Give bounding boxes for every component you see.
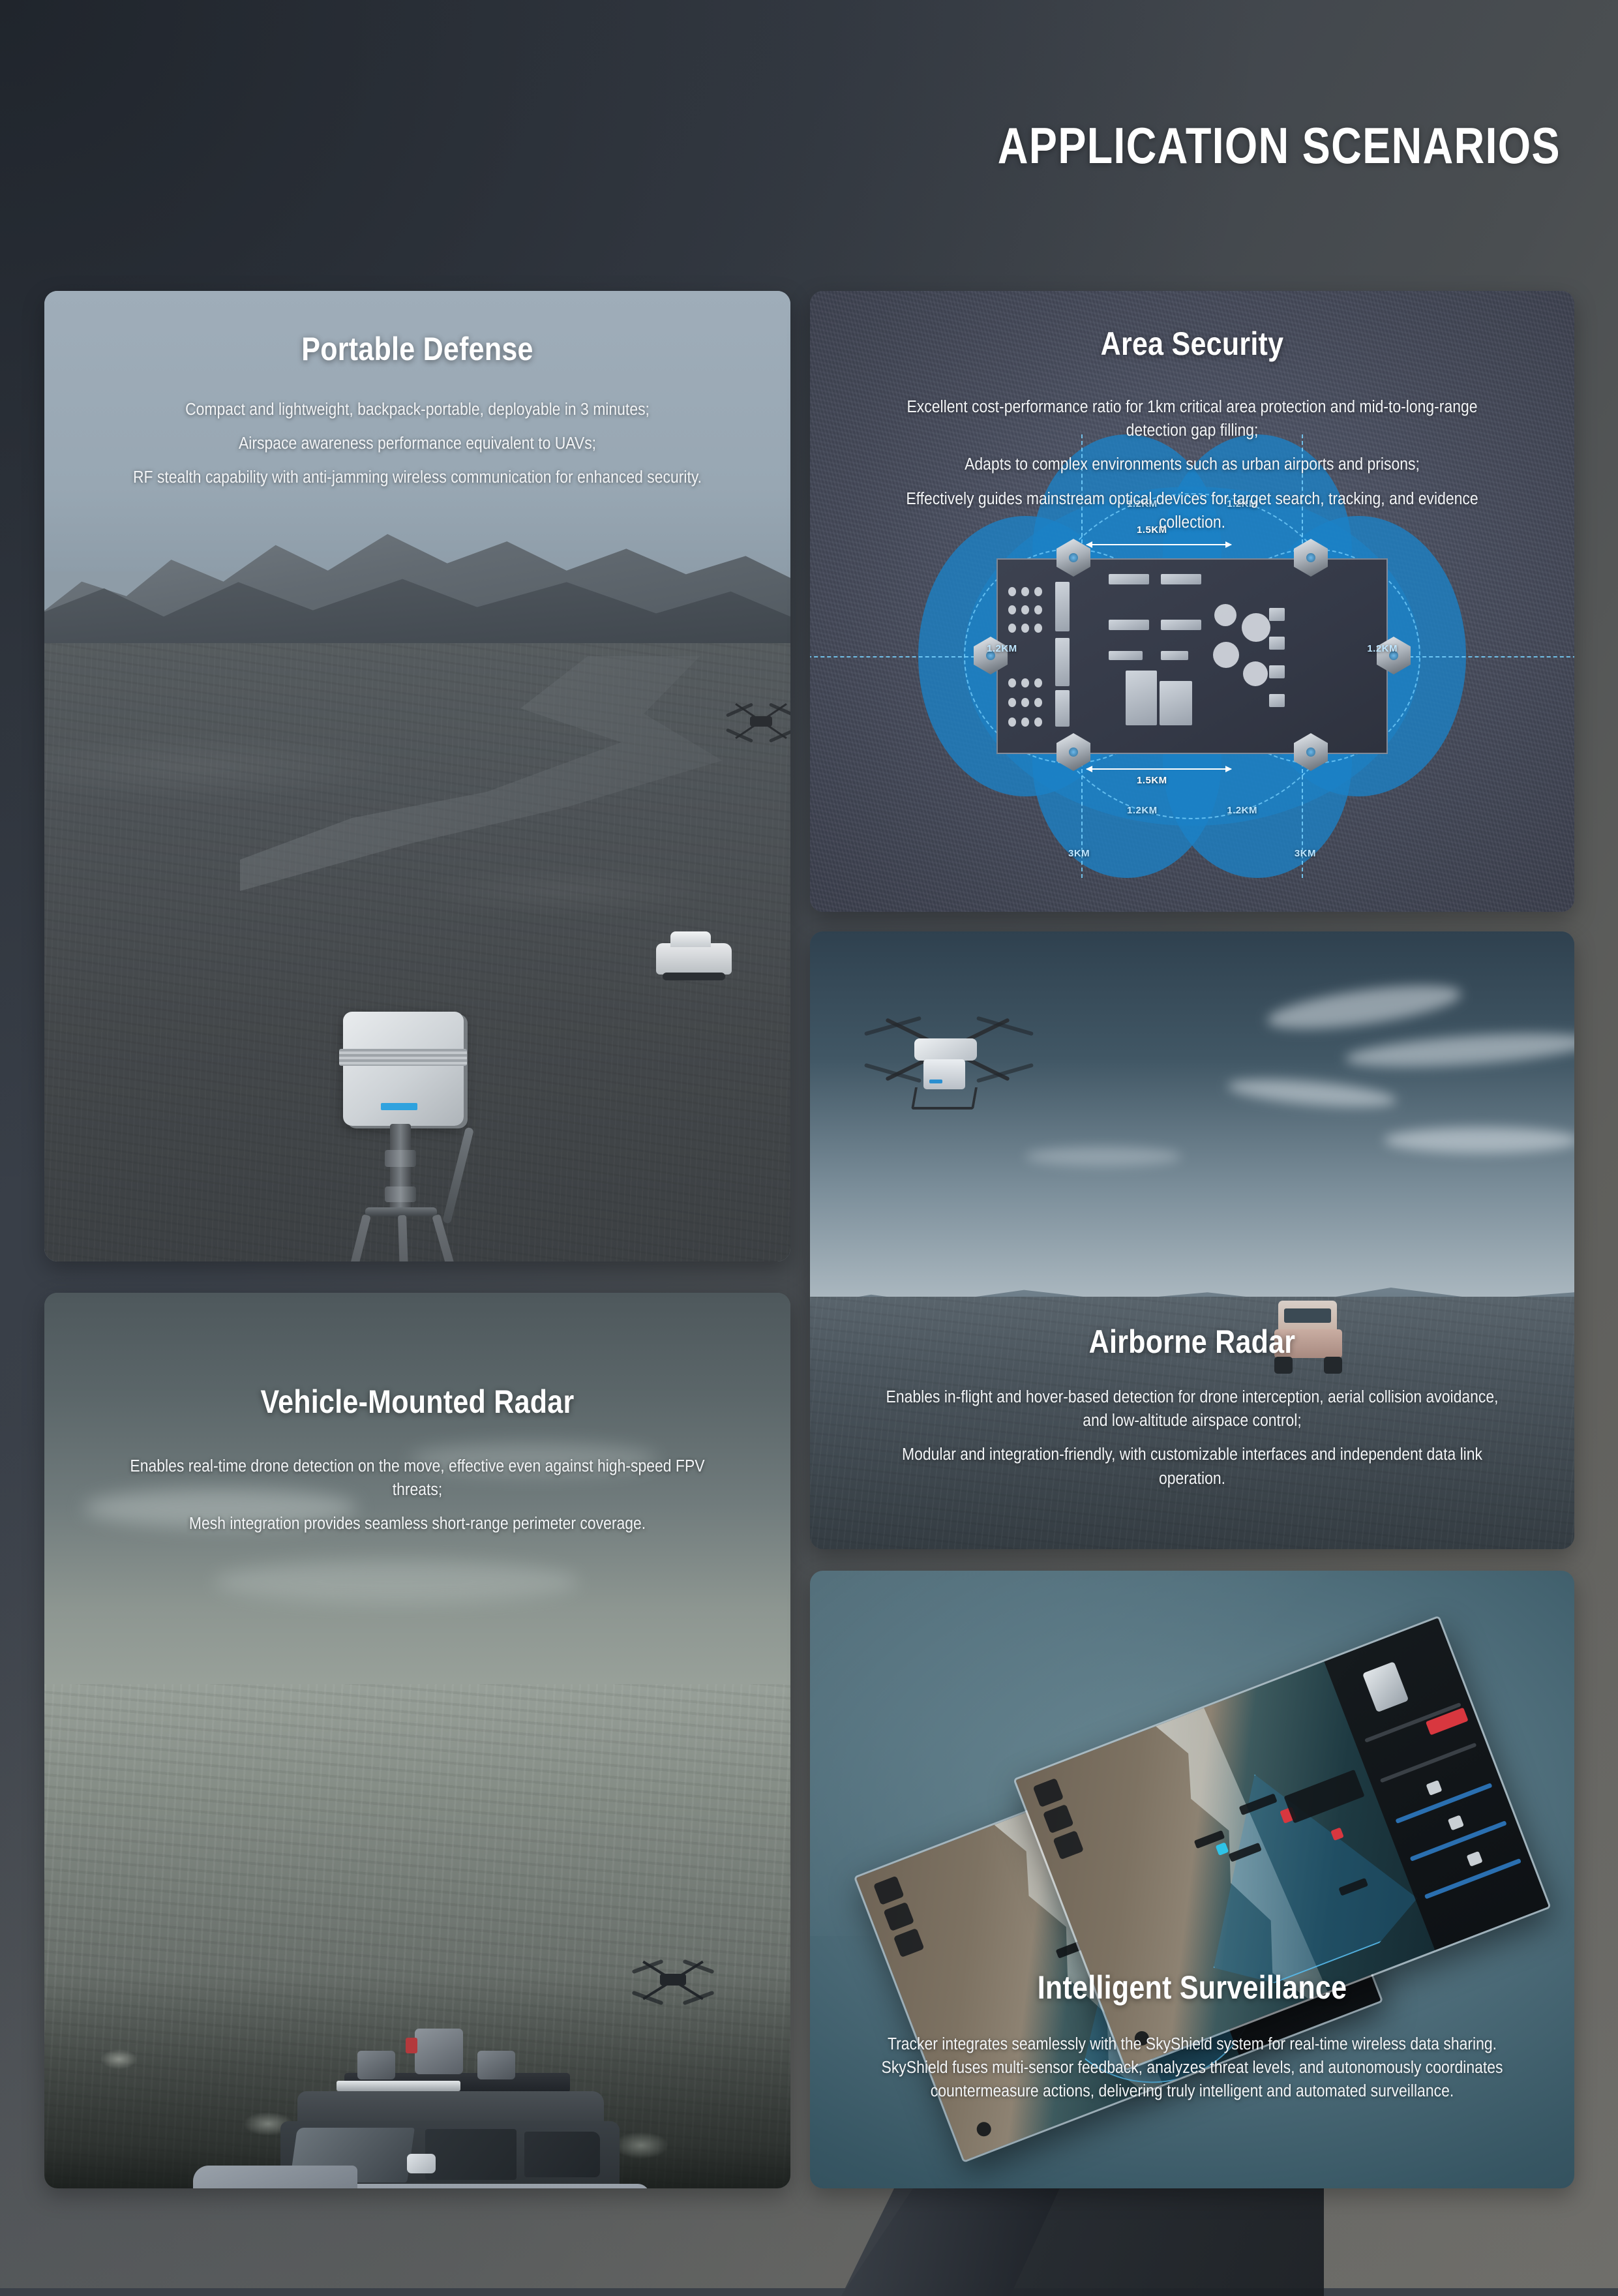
radar-sensor-left bbox=[357, 2051, 395, 2079]
alert-button[interactable] bbox=[1426, 1708, 1469, 1736]
airborne-radar-line-1: Enables in-flight and hover-based detect… bbox=[875, 1385, 1509, 1432]
cloud bbox=[1025, 1147, 1182, 1166]
vehicle-radar-line-2: Mesh integration provides seamless short… bbox=[109, 1512, 727, 1535]
portable-defense-line-1: Compact and lightweight, backpack-portab… bbox=[127, 398, 709, 421]
card-title-area-security: Area Security bbox=[890, 325, 1495, 363]
intelligent-surveillance-content: Intelligent Surveillance Tracker integra… bbox=[810, 1969, 1574, 2104]
sky-layer bbox=[810, 931, 1574, 1297]
range-label-bottom-left: 1.2KM bbox=[1127, 805, 1158, 816]
airborne-radar-line-2: Modular and integration-friendly, with c… bbox=[875, 1443, 1509, 1490]
area-security-line-2: Adapts to complex environments such as u… bbox=[875, 453, 1509, 476]
intelligent-surveillance-line-1: Tracker integrates seamlessly with the S… bbox=[875, 2032, 1509, 2104]
portable-defense-line-3: RF stealth capability with anti-jamming … bbox=[127, 466, 709, 489]
light-bar bbox=[337, 2081, 460, 2091]
fpv-drone-icon bbox=[725, 702, 790, 742]
protected-site-plan bbox=[996, 558, 1388, 754]
card-title-intelligent-surveillance: Intelligent Surveillance bbox=[890, 1969, 1495, 2006]
card-title-airborne-radar: Airborne Radar bbox=[890, 1323, 1495, 1361]
spacing-arrow-bottom bbox=[1086, 768, 1231, 770]
airborne-radar-drone bbox=[867, 1008, 1030, 1110]
landing-skid bbox=[911, 1087, 978, 1110]
card-title-portable-defense: Portable Defense bbox=[123, 330, 713, 368]
range-label-left: 1.2KM bbox=[987, 643, 1017, 654]
spacing-arrow-top bbox=[1086, 544, 1231, 545]
poster-page: APPLICATION SCENARIOS bbox=[0, 0, 1618, 2288]
brand-logo-mark bbox=[381, 1103, 417, 1110]
page-title: APPLICATION SCENARIOS bbox=[998, 116, 1561, 175]
card-area-security[interactable]: 1.5KM 1.5KM 1.2KM 1.2KM 1.2KM 1.2KM 1.2K… bbox=[810, 291, 1574, 912]
device-thumbnail bbox=[1362, 1661, 1409, 1712]
airborne-radar-content: Airborne Radar Enables in-flight and hov… bbox=[810, 1323, 1574, 1490]
spacing-label-bottom: 1.5KM bbox=[1137, 775, 1167, 786]
outer-range-label-bottom-left: 3KM bbox=[1068, 848, 1090, 859]
card-title-vehicle-mounted-radar: Vehicle-Mounted Radar bbox=[123, 1383, 713, 1421]
portable-radar-unit bbox=[325, 1012, 494, 1261]
cloud bbox=[1384, 1127, 1574, 1153]
eo-ir-turret bbox=[415, 2029, 463, 2074]
white-suv bbox=[656, 943, 732, 974]
vehicle-mounted-radar-content: Vehicle-Mounted Radar Enables real-time … bbox=[44, 1383, 790, 1536]
range-label-bottom-right: 1.2KM bbox=[1227, 805, 1257, 816]
cloud bbox=[214, 1560, 579, 1603]
outer-range-label-bottom-right: 3KM bbox=[1295, 848, 1316, 859]
card-airborne-radar[interactable]: Airborne Radar Enables in-flight and hov… bbox=[810, 931, 1574, 1549]
area-security-line-1: Excellent cost-performance ratio for 1km… bbox=[875, 395, 1509, 442]
card-vehicle-mounted-radar[interactable]: Vehicle-Mounted Radar Enables real-time … bbox=[44, 1293, 790, 2188]
vehicle-radar-line-1: Enables real-time drone detection on the… bbox=[109, 1455, 727, 1502]
portable-defense-content: Portable Defense Compact and lightweight… bbox=[44, 330, 790, 490]
area-security-content: Area Security Excellent cost-performance… bbox=[810, 325, 1574, 534]
card-portable-defense[interactable]: Portable Defense Compact and lightweight… bbox=[44, 291, 790, 1261]
radar-sensor-right bbox=[477, 2051, 515, 2079]
radar-payload-pod bbox=[923, 1059, 965, 1089]
range-label-right: 1.2KM bbox=[1367, 643, 1398, 654]
side-mirror bbox=[407, 2154, 436, 2173]
armored-radar-vehicle bbox=[183, 2056, 665, 2188]
card-intelligent-surveillance[interactable]: Intelligent Surveillance Tracker integra… bbox=[810, 1571, 1574, 2188]
portable-defense-line-2: Airspace awareness performance equivalen… bbox=[127, 432, 709, 455]
fpv-drone-icon bbox=[631, 1957, 715, 2005]
area-security-line-3: Effectively guides mainstream optical de… bbox=[875, 487, 1509, 534]
